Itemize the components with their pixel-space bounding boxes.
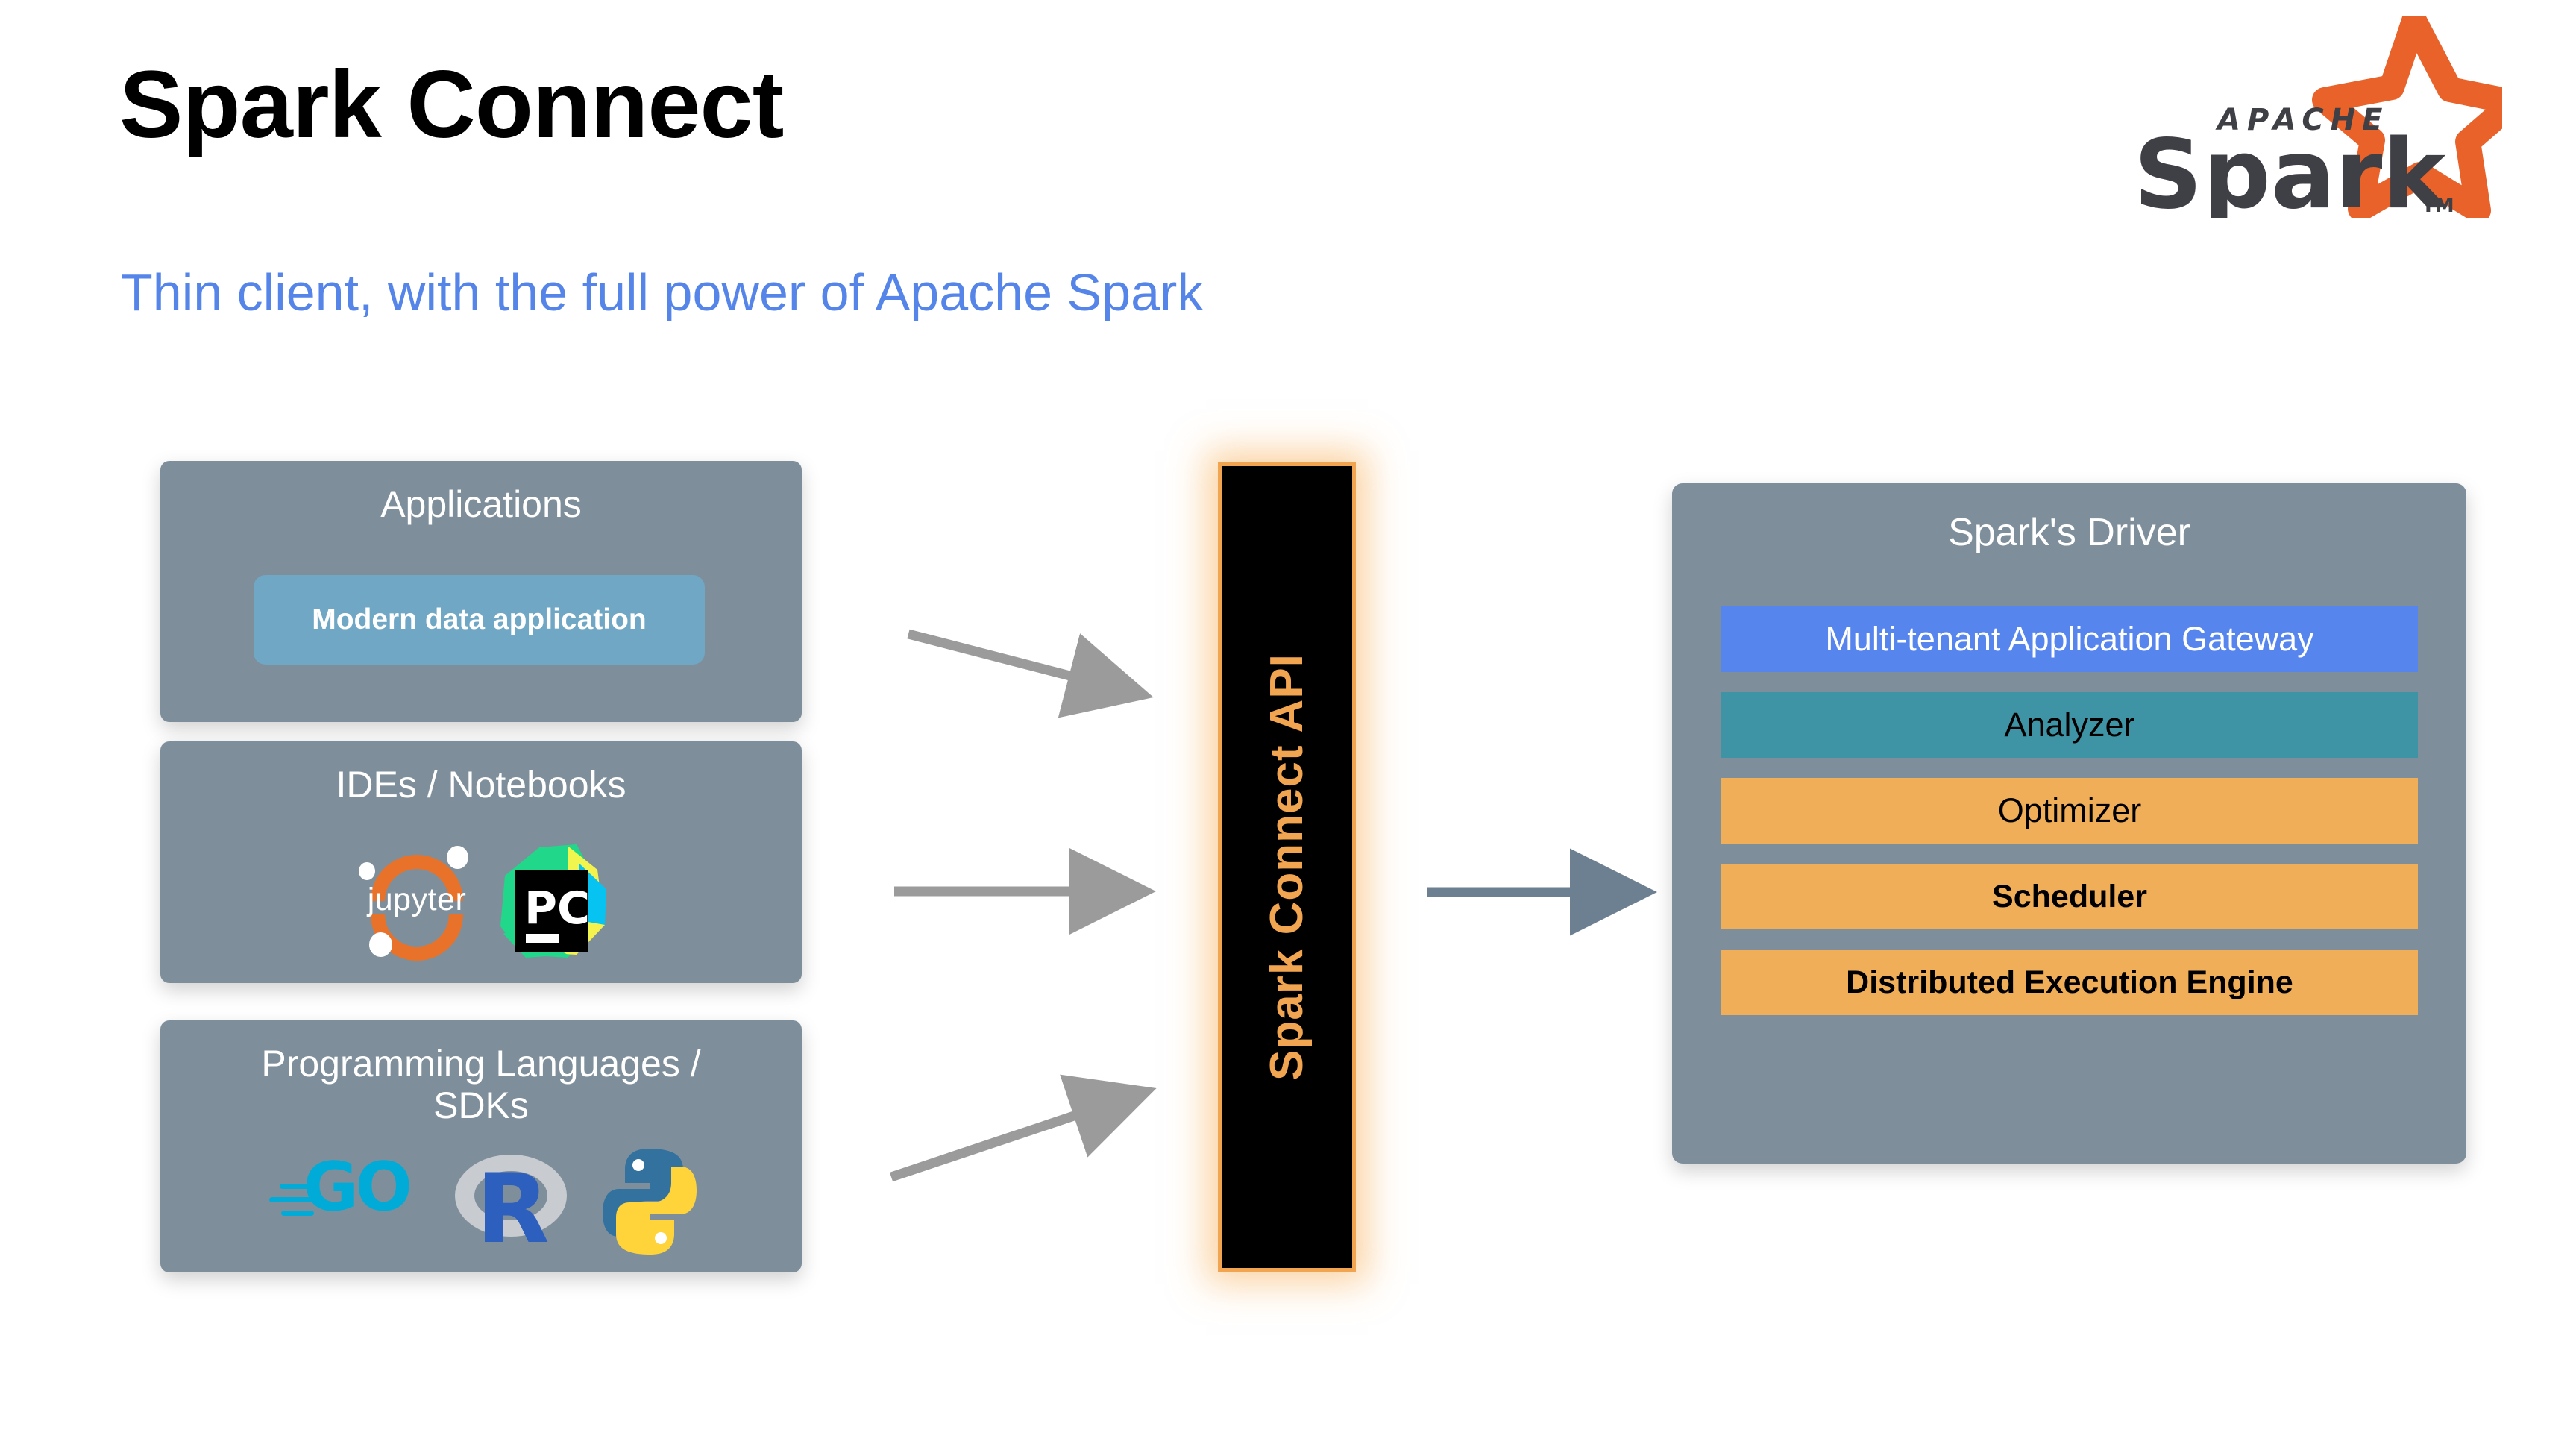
arrow-languages-to-api — [891, 1113, 1083, 1177]
slide-root: Spark Connect Thin client, with the full… — [0, 0, 2576, 1447]
arrow-applications-to-api — [908, 634, 1078, 678]
connector-arrows — [0, 0, 2576, 1447]
